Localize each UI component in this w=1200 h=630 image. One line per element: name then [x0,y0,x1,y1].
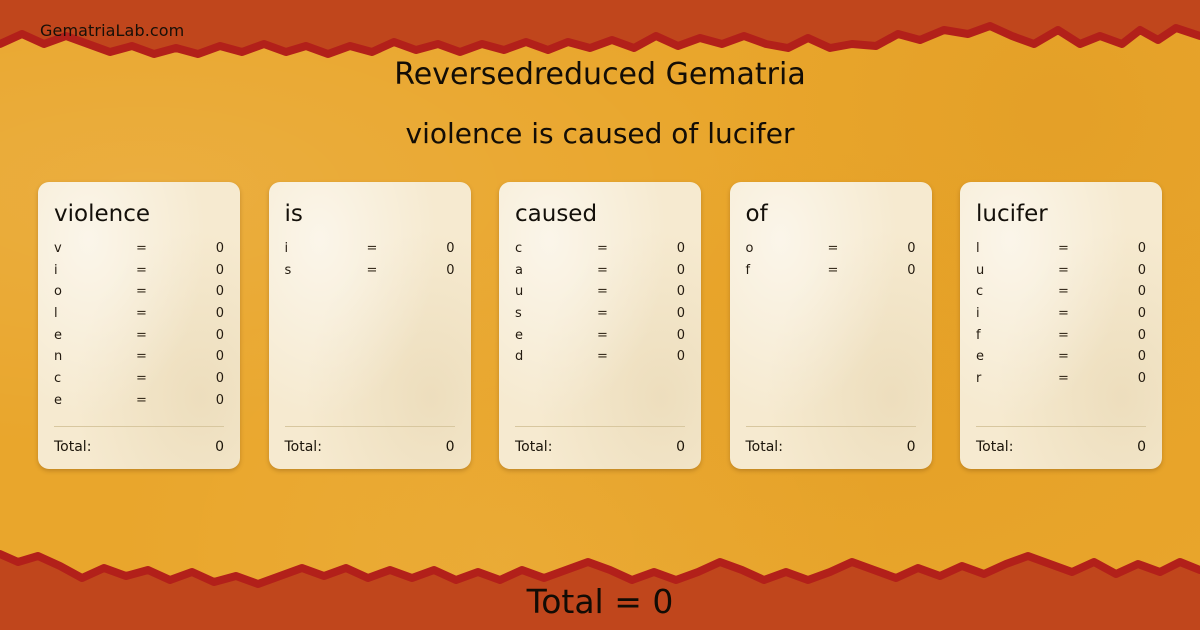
letter-char: n [54,349,136,364]
letter-value: 0 [178,371,224,386]
letter-value: 0 [639,241,685,256]
letter-char: s [515,306,597,321]
word-total-label: Total: [515,439,676,455]
letter-value: 0 [1100,349,1146,364]
equals-sign: = [828,263,870,278]
letter-value-row: e=0 [54,393,224,415]
letter-value-row: r=0 [976,371,1146,393]
equals-sign: = [136,371,178,386]
grand-total: Total = 0 [0,582,1200,622]
word-total-row: Total:0 [515,427,685,455]
letter-char: l [976,241,1058,256]
letter-value: 0 [178,263,224,278]
letter-value-row: a=0 [515,263,685,285]
equals-sign: = [1058,328,1100,343]
cipher-title: Reversedreduced Gematria [0,57,1200,93]
letter-value: 0 [1100,263,1146,278]
letter-value-row: s=0 [515,306,685,328]
letter-value-row: c=0 [54,371,224,393]
word-card-title: caused [515,200,685,228]
equals-sign: = [367,241,409,256]
word-card: isi=0s=0Total:0 [269,182,471,469]
word-total-value: 0 [676,439,685,455]
equals-sign: = [1058,263,1100,278]
word-card: ofo=0f=0Total:0 [730,182,932,469]
letter-value-list: c=0a=0u=0s=0e=0d=0 [515,241,685,426]
word-card-title: is [285,200,455,228]
letter-char: o [54,284,136,299]
letter-char: e [54,393,136,408]
word-total-label: Total: [285,439,446,455]
letter-char: c [54,371,136,386]
letter-value: 0 [409,263,455,278]
letter-value: 0 [639,263,685,278]
word-total-value: 0 [215,439,224,455]
letter-char: i [285,241,367,256]
word-card-title: of [746,200,916,228]
equals-sign: = [597,306,639,321]
equals-sign: = [367,263,409,278]
letter-value: 0 [178,349,224,364]
letter-value-row: n=0 [54,349,224,371]
letter-value: 0 [639,328,685,343]
equals-sign: = [597,328,639,343]
letter-char: a [515,263,597,278]
letter-value: 0 [639,284,685,299]
letter-value-list: o=0f=0 [746,241,916,426]
letter-char: e [976,349,1058,364]
letter-value: 0 [409,241,455,256]
letter-char: f [746,263,828,278]
letter-value: 0 [870,241,916,256]
letter-value: 0 [639,306,685,321]
word-total-label: Total: [746,439,907,455]
equals-sign: = [136,393,178,408]
letter-value-row: e=0 [54,328,224,350]
word-total-label: Total: [54,439,215,455]
letter-value-list: i=0s=0 [285,241,455,426]
equals-sign: = [136,328,178,343]
letter-char: i [976,306,1058,321]
letter-value-list: v=0i=0o=0l=0e=0n=0c=0e=0 [54,241,224,426]
letter-value-row: o=0 [746,241,916,263]
equals-sign: = [1058,284,1100,299]
letter-char: f [976,328,1058,343]
word-total-value: 0 [446,439,455,455]
word-card: luciferl=0u=0c=0i=0f=0e=0r=0Total:0 [960,182,1162,469]
equals-sign: = [136,349,178,364]
letter-value: 0 [639,349,685,364]
letter-value-row: e=0 [515,328,685,350]
letter-value-row: s=0 [285,263,455,285]
letter-value: 0 [178,284,224,299]
letter-value: 0 [1100,371,1146,386]
letter-value: 0 [870,263,916,278]
equals-sign: = [136,263,178,278]
letter-char: c [976,284,1058,299]
letter-value: 0 [178,393,224,408]
letter-value-row: o=0 [54,284,224,306]
equals-sign: = [1058,371,1100,386]
letter-value-row: u=0 [515,284,685,306]
letter-char: c [515,241,597,256]
letter-char: e [515,328,597,343]
phrase-title: violence is caused of lucifer [0,117,1200,151]
equals-sign: = [597,263,639,278]
word-total-row: Total:0 [976,427,1146,455]
word-card-list: violencev=0i=0o=0l=0e=0n=0c=0e=0Total:0i… [38,182,1162,469]
letter-value: 0 [1100,241,1146,256]
equals-sign: = [1058,241,1100,256]
letter-char: u [515,284,597,299]
letter-value: 0 [1100,328,1146,343]
letter-value-row: v=0 [54,241,224,263]
letter-char: i [54,263,136,278]
equals-sign: = [136,306,178,321]
gematria-result-page: GematriaLab.com Reversedreduced Gematria… [0,0,1200,630]
letter-value-row: d=0 [515,349,685,371]
equals-sign: = [597,284,639,299]
letter-value-row: l=0 [54,306,224,328]
site-logo[interactable]: GematriaLab.com [40,21,184,40]
equals-sign: = [136,241,178,256]
letter-value-row: i=0 [54,263,224,285]
word-total-row: Total:0 [285,427,455,455]
letter-value-row: e=0 [976,349,1146,371]
letter-value-list: l=0u=0c=0i=0f=0e=0r=0 [976,241,1146,426]
word-total-row: Total:0 [746,427,916,455]
headings: Reversedreduced Gematria violence is cau… [0,57,1200,151]
letter-char: o [746,241,828,256]
word-card-title: violence [54,200,224,228]
word-total-value: 0 [907,439,916,455]
letter-value: 0 [1100,284,1146,299]
letter-char: l [54,306,136,321]
letter-char: u [976,263,1058,278]
letter-value-row: c=0 [515,241,685,263]
letter-char: d [515,349,597,364]
letter-value-row: l=0 [976,241,1146,263]
equals-sign: = [1058,349,1100,364]
letter-value: 0 [178,328,224,343]
letter-value: 0 [1100,306,1146,321]
equals-sign: = [597,349,639,364]
letter-char: s [285,263,367,278]
equals-sign: = [136,284,178,299]
letter-value-row: c=0 [976,284,1146,306]
word-card: causedc=0a=0u=0s=0e=0d=0Total:0 [499,182,701,469]
letter-char: e [54,328,136,343]
word-total-label: Total: [976,439,1137,455]
word-total-value: 0 [1137,439,1146,455]
letter-value: 0 [178,306,224,321]
equals-sign: = [597,241,639,256]
letter-value-row: u=0 [976,263,1146,285]
letter-value-row: f=0 [746,263,916,285]
letter-char: v [54,241,136,256]
letter-value: 0 [178,241,224,256]
equals-sign: = [828,241,870,256]
letter-value-row: f=0 [976,328,1146,350]
word-card: violencev=0i=0o=0l=0e=0n=0c=0e=0Total:0 [38,182,240,469]
equals-sign: = [1058,306,1100,321]
letter-char: r [976,371,1058,386]
letter-value-row: i=0 [285,241,455,263]
word-card-title: lucifer [976,200,1146,228]
word-total-row: Total:0 [54,427,224,455]
letter-value-row: i=0 [976,306,1146,328]
